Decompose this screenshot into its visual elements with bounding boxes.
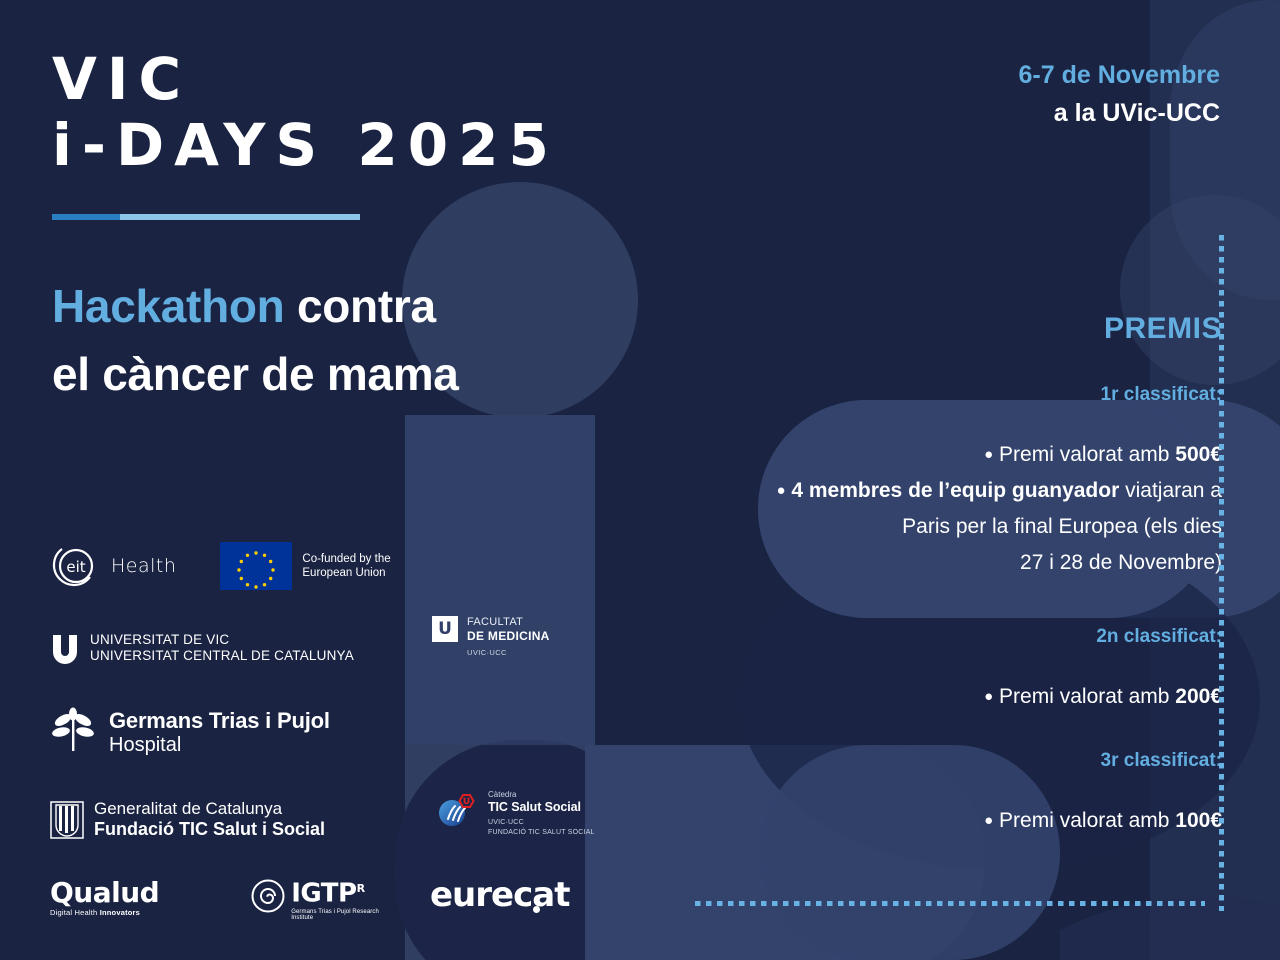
igtp-word: IGTP — [291, 879, 356, 909]
qualud-wordmark: Qualud — [50, 879, 159, 907]
vertical-dotted-line — [1219, 235, 1224, 911]
title-line-2: i-DAYS 2025 — [52, 112, 559, 178]
prize-entry-1: 1r classificat: ● Premi valorat amb 500€… — [752, 384, 1222, 578]
event-date-block: 6-7 de Novembre a la UVic-UCC — [1019, 56, 1220, 132]
rule-segment-dark — [52, 214, 120, 220]
sponsor-logos-left: eit Health — [50, 542, 400, 840]
prize-entry-2: 2n classificat: ● Premi valorat amb 200€ — [752, 626, 1222, 712]
headline-block: VIC i-DAYS 2025 — [52, 46, 559, 220]
subtitle-line-1: Hackathon contra — [52, 272, 459, 340]
catedra-mark-icon: U — [436, 790, 480, 830]
qualud-tagline-b: Innovators — [100, 908, 140, 917]
subtitle-line-2: el càncer de mama — [52, 340, 459, 408]
logo-eit-health: eit Health — [50, 543, 176, 589]
leaf-plant-icon — [50, 706, 98, 759]
uvic-text: UNIVERSITAT DE VIC UNIVERSITAT CENTRAL D… — [90, 632, 354, 664]
eu-text-line-2: European Union — [302, 566, 390, 580]
prize-rank-2: 2n classificat: — [752, 626, 1222, 648]
prize-line: ● Premi valorat amb 100€ — [752, 806, 1222, 836]
logo-eu-cofunded: Co-funded by the European Union — [220, 542, 390, 590]
qualud-tagline-a: Digital Health — [50, 908, 100, 917]
eurecat-dot-icon — [533, 906, 540, 913]
prize-rank-1: 1r classificat: — [752, 384, 1222, 406]
uvic-line-2: UNIVERSITAT CENTRAL DE CATALUNYA — [90, 648, 354, 664]
qualud-tagline: Digital Health Innovators — [50, 908, 159, 917]
prize-text-bold: 100€ — [1175, 809, 1222, 832]
prize-text-pre: Premi valorat amb — [999, 809, 1175, 832]
prize-line: Paris per la final Europea (els dies — [752, 512, 1222, 542]
spacer — [752, 584, 1222, 626]
prize-line: ● Premi valorat amb 200€ — [752, 682, 1222, 712]
prizes-title: PREMIS — [752, 312, 1222, 346]
prize-line: ● Premi valorat amb 500€ — [752, 440, 1222, 470]
bullet-icon: ● — [984, 812, 993, 829]
title-line-1: VIC — [52, 46, 559, 112]
igtp-tagline: Germans Trias i Pujol Research Institute — [291, 909, 390, 921]
sponsor-logos-middle: U FACULTAT DE MEDICINA UVIC·UCC — [432, 616, 622, 658]
prize-rank-3: 3r classificat: — [752, 750, 1222, 772]
svg-text:U: U — [463, 797, 470, 807]
sponsor-logos-bottom: Qualud Digital Health Innovators IGTPR G… — [50, 876, 390, 921]
bullet-icon: ● — [776, 482, 785, 499]
germans-line-2: Hospital — [109, 733, 330, 757]
subtitle-block: Hackathon contra el càncer de mama — [52, 272, 459, 408]
facultat-text: FACULTAT DE MEDICINA UVIC·UCC — [467, 616, 550, 658]
logo-uvic-ucc: UNIVERSITAT DE VIC UNIVERSITAT CENTRAL D… — [50, 632, 400, 664]
prize-text-pre: Premi valorat amb — [999, 443, 1175, 466]
catedra-line-2: TIC Salut Social — [488, 800, 595, 815]
prize-line: 27 i 28 de Novembre) — [752, 548, 1222, 578]
logo-qualud: Qualud Digital Health Innovators — [50, 879, 159, 917]
prizes-section: PREMIS 1r classificat: ● Premi valorat a… — [752, 312, 1222, 842]
generalitat-text: Generalitat de Catalunya Fundació TIC Sa… — [94, 799, 325, 840]
svg-text:eit: eit — [66, 558, 85, 576]
prize-line: ● 4 membres de l’equip guanyador viatjar… — [752, 476, 1222, 506]
logo-catedra-tic-salut: U Càtedra TIC Salut Social UVIC·UCC FUND… — [436, 790, 595, 837]
event-dates: 6-7 de Novembre — [1019, 56, 1220, 94]
logo-facultat-medicina: U FACULTAT DE MEDICINA UVIC·UCC — [432, 616, 622, 658]
uvic-u-icon — [50, 633, 80, 663]
prize-entry-3: 3r classificat: ● Premi valorat amb 100€ — [752, 750, 1222, 836]
eu-flag-icon — [220, 542, 292, 590]
generalitat-line-2: Fundació TIC Salut i Social — [94, 819, 325, 840]
horizontal-dotted-line — [695, 901, 1205, 906]
facultat-line-1: FACULTAT — [467, 616, 550, 629]
catedra-text: Càtedra TIC Salut Social UVIC·UCC FUNDAC… — [488, 790, 595, 837]
subtitle-highlight: Hackathon — [52, 280, 284, 332]
eurecat-word: eurecat — [430, 875, 569, 915]
event-venue: a la UVic-UCC — [1019, 94, 1220, 132]
prize-text-bold: 200€ — [1175, 685, 1222, 708]
logo-generalitat-tic-salut: Generalitat de Catalunya Fundació TIC Sa… — [50, 799, 400, 840]
prize-text-post: viatjaran a — [1119, 479, 1222, 502]
subtitle-rest: contra — [284, 280, 435, 332]
eit-health-label: Health — [111, 555, 176, 577]
catedra-line-3: UVIC·UCC — [488, 818, 595, 828]
catedra-line-1: Càtedra — [488, 790, 595, 800]
spacer — [752, 718, 1222, 750]
prize-text-pre: Premi valorat amb — [999, 685, 1175, 708]
eu-cofunded-text: Co-funded by the European Union — [302, 552, 390, 580]
igtp-superscript: R — [357, 882, 365, 895]
germans-line-1: Germans Trias i Pujol — [109, 708, 330, 733]
eurecat-wordmark: eurecat — [430, 878, 569, 912]
igtp-text: IGTPR Germans Trias i Pujol Research Ins… — [291, 876, 390, 921]
eu-text-line-1: Co-funded by the — [302, 552, 390, 566]
generalitat-line-1: Generalitat de Catalunya — [94, 799, 325, 819]
bullet-icon: ● — [984, 446, 993, 463]
igtp-wordmark: IGTPR — [291, 876, 390, 907]
logo-eurecat: eurecat — [430, 878, 569, 912]
prize-text-bold: 500€ — [1175, 443, 1222, 466]
igtp-spiral-icon — [251, 879, 285, 918]
logo-igtp: IGTPR Germans Trias i Pujol Research Ins… — [251, 876, 390, 921]
logo-row-1: eit Health — [50, 542, 400, 590]
generalitat-shield-icon — [50, 801, 84, 839]
title-underline-rule — [52, 214, 360, 220]
facultat-u-icon: U — [432, 616, 458, 642]
eit-circle-icon: eit — [50, 543, 102, 589]
logo-germans-trias-pujol: Germans Trias i Pujol Hospital — [50, 706, 400, 759]
bullet-icon: ● — [984, 688, 993, 705]
catedra-line-4: FUNDACIÓ TIC SALUT SOCIAL — [488, 828, 595, 838]
facultat-line-2: DE MEDICINA — [467, 629, 550, 643]
facultat-line-3: UVIC·UCC — [467, 647, 550, 658]
germans-text: Germans Trias i Pujol Hospital — [109, 708, 330, 757]
rule-segment-light — [120, 214, 360, 220]
facultat-u-letter: U — [438, 621, 452, 638]
prize-text-bold: 4 membres de l’equip guanyador — [791, 479, 1119, 502]
uvic-line-1: UNIVERSITAT DE VIC — [90, 632, 354, 648]
